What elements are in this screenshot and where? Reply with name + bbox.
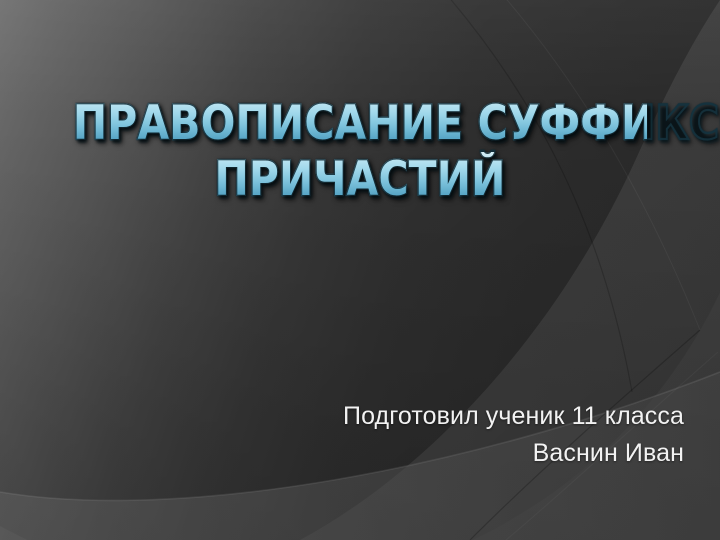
title-line-2: Причастий Причастий — [30, 152, 690, 208]
subtitle-line-name: Васнин Иван — [120, 435, 684, 472]
slide-subtitle[interactable]: Подготовил ученик 11 класса Васнин Иван — [120, 398, 684, 472]
slide-title[interactable]: Правописание суффиксов Правописание суфф… — [30, 96, 690, 208]
subtitle-line-author: Подготовил ученик 11 класса — [120, 398, 684, 435]
title-line-2-text: Причастий — [73, 152, 647, 208]
title-line-1: Правописание суффиксов Правописание суфф… — [30, 96, 690, 152]
presentation-slide: Правописание суффиксов Правописание суфф… — [0, 0, 720, 540]
title-line-1-text: Правописание суффиксов — [73, 96, 647, 152]
